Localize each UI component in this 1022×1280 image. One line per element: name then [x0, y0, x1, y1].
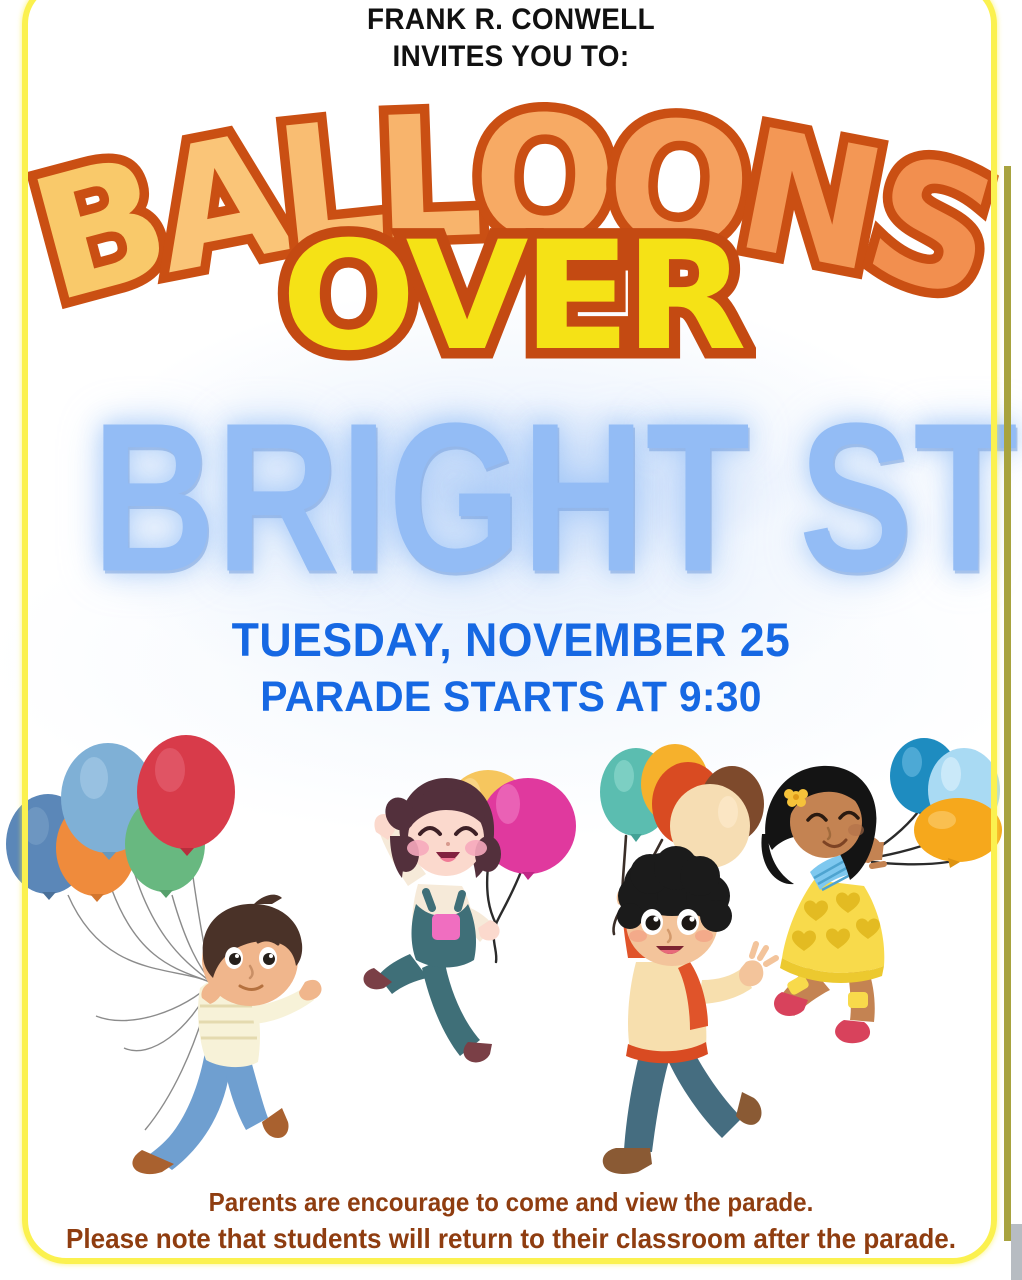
footer-note: Parents are encourage to come and view t… — [0, 1186, 1022, 1257]
footer-line-2: Please note that students will return to… — [36, 1221, 986, 1257]
over-wordart: OVER — [0, 222, 1022, 382]
event-time: PARADE STARTS AT 9:30 — [26, 673, 997, 721]
child-boy-striped-sweater — [0, 730, 380, 1200]
invitation-header: FRANK R. CONWELL INVITES YOU TO: — [36, 2, 986, 75]
poster-canvas: FRANK R. CONWELL INVITES YOU TO: B A L L… — [0, 0, 1022, 1280]
footer-line-1: Parents are encourage to come and view t… — [36, 1186, 986, 1219]
event-details: TUESDAY, NOVEMBER 25 PARADE STARTS AT 9:… — [0, 614, 1022, 721]
children-illustration — [0, 730, 1022, 1200]
school-name: FRANK R. CONWELL — [36, 2, 986, 39]
invite-line: INVITES YOU TO: — [36, 39, 986, 76]
bright-st-text: BRIGHT ST — [92, 392, 930, 604]
olive-edge-rule — [1004, 166, 1011, 1241]
scan-edge-bottom-right — [1011, 1224, 1022, 1280]
child-girl-teal-overalls — [348, 754, 594, 1084]
event-date: TUESDAY, NOVEMBER 25 — [26, 614, 997, 667]
over-text: OVER — [281, 222, 741, 372]
child-girl-yellow-dress — [752, 734, 1012, 1064]
